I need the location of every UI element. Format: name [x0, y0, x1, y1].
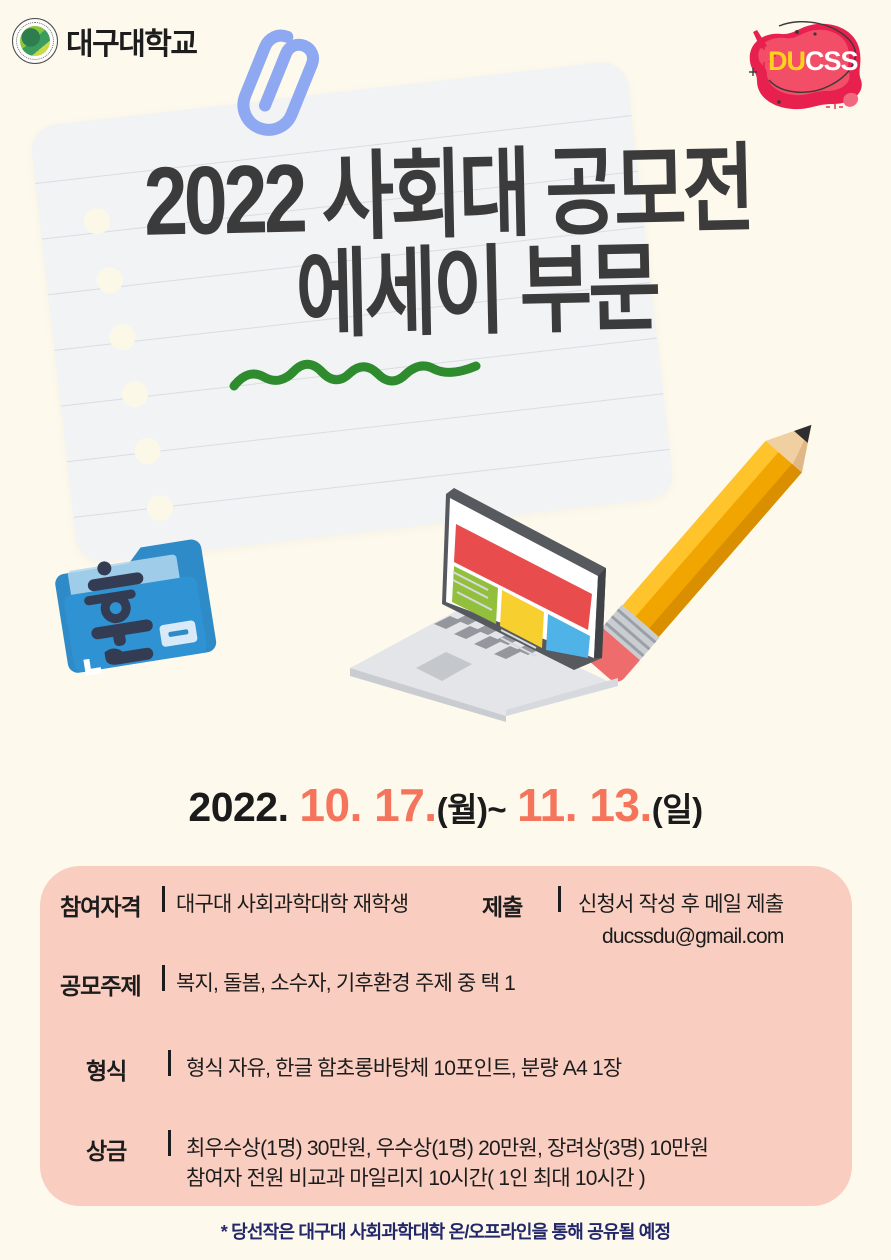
row-value-prize-line2: 참여자 전원 비교과 마일리지 10시간( 1인 최대 10시간 ) [186, 1165, 645, 1194]
date-end: 11. 13. [517, 779, 652, 831]
laptop-icon [338, 472, 628, 727]
row-value-eligibility: 대구대 사회과학대학 재학생 [176, 891, 408, 920]
row-value-topic: 복지, 돌봄, 소수자, 기후환경 주제 중 택 1 [176, 970, 515, 999]
id-card-icon [52, 528, 232, 693]
footer-note: * 당선작은 대구대 사회과학대학 온/오프라인을 통해 공유될 예정 [0, 1218, 891, 1244]
row-label-topic: 공모주제 [60, 967, 141, 1001]
punch-hole [121, 380, 150, 409]
row-label-eligibility: 참여자격 [60, 888, 141, 922]
row-value-format: 형식 자유, 한글 함초롱바탕체 10포인트, 분량 A4 1장 [186, 1055, 621, 1084]
ducss-club-logo: DU CSS [727, 8, 877, 128]
squiggle-underline-icon [228, 352, 483, 401]
title-line-2: 에세이 부문 [18, 228, 876, 360]
punch-hole [133, 437, 162, 466]
poster-canvas: 대구대학교 DU CSS [0, 0, 891, 1260]
row-value-submission-line2: ducssdu@gmail.com [602, 923, 784, 952]
event-date: 2022. 10. 17.(월)~ 11. 13.(일) [0, 778, 891, 832]
date-year: 2022. [188, 784, 288, 830]
university-seal-icon [12, 18, 58, 64]
info-box: 참여자격 대구대 사회과학대학 재학생 제출 신청서 작성 후 메일 제출 du… [40, 866, 852, 1206]
date-start: 10. 17. [299, 779, 436, 831]
row-label-submission: 제출 [482, 888, 522, 922]
date-start-weekday: (월)~ [437, 791, 507, 828]
poster-title: 2022 사회대 공모전 에세이 부문 [0, 131, 891, 343]
punch-hole [146, 494, 175, 523]
ducss-du-text: DU [768, 46, 805, 76]
ducss-css-text: CSS [805, 46, 858, 76]
row-value-submission-line1: 신청서 작성 후 메일 제출 [578, 891, 783, 920]
row-value-prize-line1: 최우수상(1명) 30만원, 우수상(1명) 20만원, 장려상(3명) 10만… [186, 1135, 708, 1164]
row-label-prize: 상금 [86, 1132, 126, 1166]
paperclip-icon [232, 20, 362, 155]
university-name: 대구대학교 [66, 19, 197, 63]
date-end-weekday: (일) [652, 791, 703, 828]
university-logo: 대구대학교 [12, 18, 197, 64]
row-label-format: 형식 [86, 1052, 126, 1086]
